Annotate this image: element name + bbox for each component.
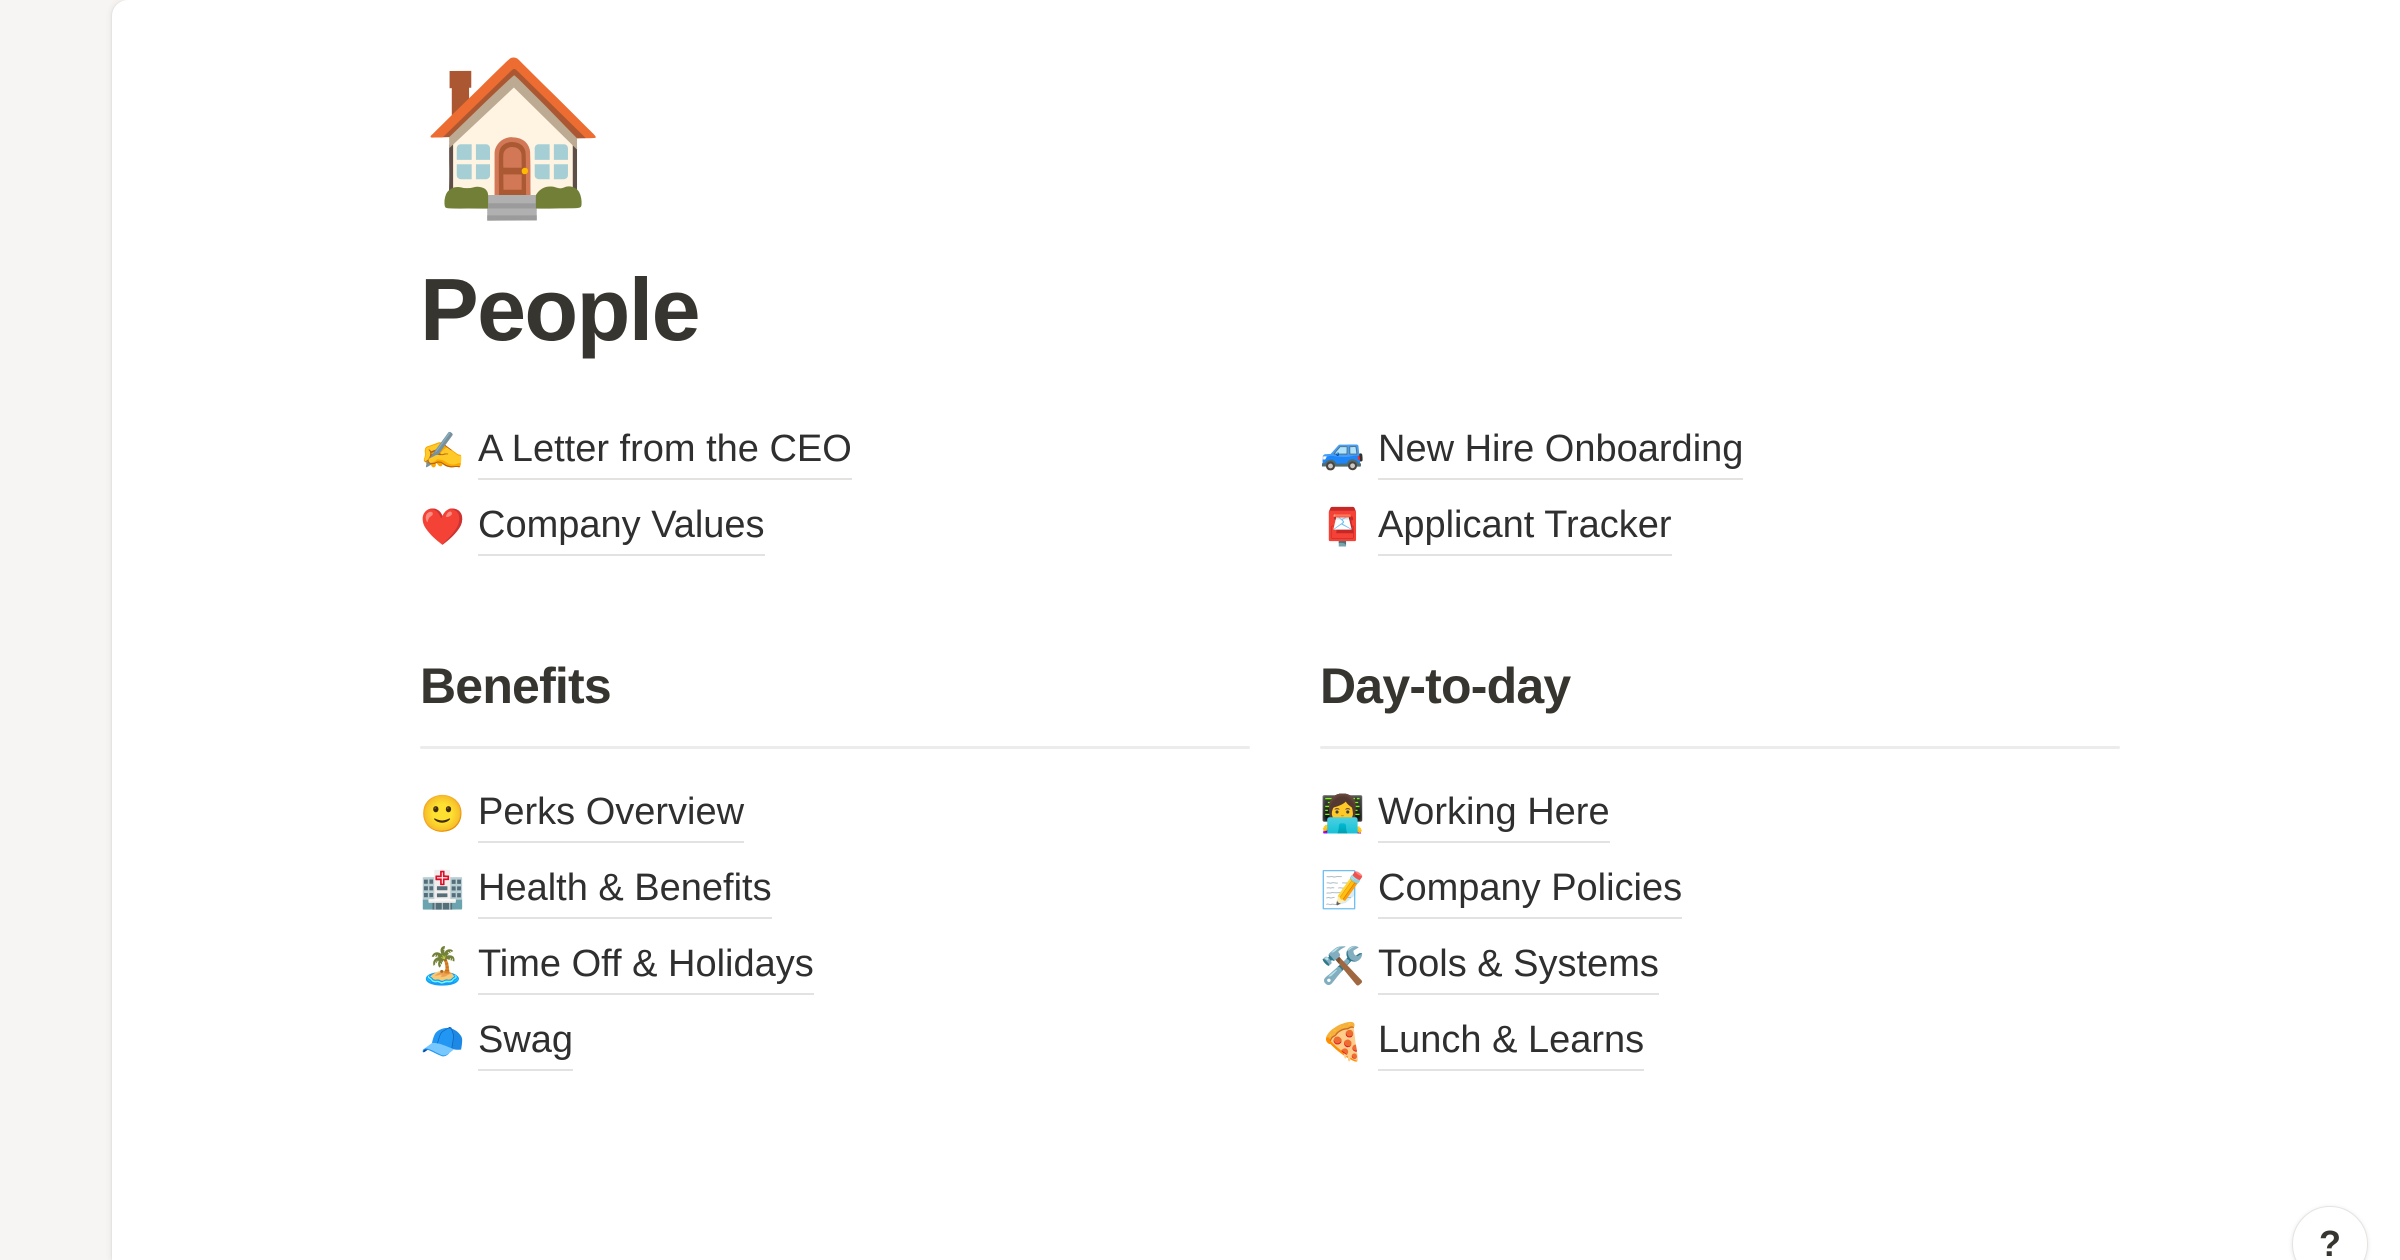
section-heading-benefits: Benefits bbox=[420, 656, 1320, 716]
section-divider bbox=[1320, 746, 2120, 749]
hospital-icon: 🏥 bbox=[420, 873, 478, 909]
top-links-right-column: 🚙 New Hire Onboarding 📮 Applicant Tracke… bbox=[1320, 414, 2220, 566]
link-swag[interactable]: Swag bbox=[478, 1016, 573, 1070]
link-new-hire-onboarding[interactable]: New Hire Onboarding bbox=[1378, 425, 1743, 479]
billed-cap-icon: 🧢 bbox=[420, 1025, 478, 1061]
desert-island-icon: 🏝️ bbox=[420, 949, 478, 985]
link-row[interactable]: 📝 Company Policies bbox=[1320, 853, 2220, 929]
link-applicant-tracker[interactable]: Applicant Tracker bbox=[1378, 501, 1672, 555]
postbox-icon: 📮 bbox=[1320, 510, 1378, 546]
top-links-columns: ✍️ A Letter from the CEO ❤️ Company Valu… bbox=[420, 414, 2220, 566]
hammer-and-wrench-icon: 🛠️ bbox=[1320, 949, 1378, 985]
woman-technologist-icon: 👩‍💻 bbox=[1320, 797, 1378, 833]
link-row[interactable]: 🍕 Lunch & Learns bbox=[1320, 1005, 2220, 1081]
link-tools-and-systems[interactable]: Tools & Systems bbox=[1378, 940, 1659, 994]
section-benefits: Benefits 🙂 Perks Overview 🏥 Health & Ben… bbox=[420, 656, 1320, 1081]
link-lunch-and-learns[interactable]: Lunch & Learns bbox=[1378, 1016, 1644, 1070]
app-root: 🏠 People ✍️ A Letter from the CEO ❤️ Com… bbox=[0, 0, 2400, 1260]
link-company-policies[interactable]: Company Policies bbox=[1378, 864, 1682, 918]
section-columns: Benefits 🙂 Perks Overview 🏥 Health & Ben… bbox=[420, 566, 2220, 1081]
day-to-day-link-list: 👩‍💻 Working Here 📝 Company Policies 🛠️ T… bbox=[1320, 777, 2220, 1081]
section-divider bbox=[420, 746, 1250, 749]
sidebar-rail bbox=[0, 0, 114, 1260]
page-body: 🏠 People ✍️ A Letter from the CEO ❤️ Com… bbox=[420, 0, 2220, 1081]
link-working-here[interactable]: Working Here bbox=[1378, 788, 1610, 842]
section-heading-day-to-day: Day-to-day bbox=[1320, 656, 2220, 716]
link-row[interactable]: 🏝️ Time Off & Holidays bbox=[420, 929, 1320, 1005]
link-row[interactable]: 🛠️ Tools & Systems bbox=[1320, 929, 2220, 1005]
red-heart-icon: ❤️ bbox=[420, 510, 478, 546]
help-button[interactable]: ? bbox=[2292, 1206, 2368, 1260]
page-title: People bbox=[420, 264, 2220, 356]
link-row[interactable]: 📮 Applicant Tracker bbox=[1320, 490, 2220, 566]
section-day-to-day: Day-to-day 👩‍💻 Working Here 📝 Company Po… bbox=[1320, 656, 2220, 1081]
page-scroll-area[interactable]: 🏠 People ✍️ A Letter from the CEO ❤️ Com… bbox=[112, 0, 2400, 1260]
car-icon: 🚙 bbox=[1320, 434, 1378, 470]
top-links-left-column: ✍️ A Letter from the CEO ❤️ Company Valu… bbox=[420, 414, 1320, 566]
link-perks-overview[interactable]: Perks Overview bbox=[478, 788, 744, 842]
memo-icon: 📝 bbox=[1320, 873, 1378, 909]
benefits-link-list: 🙂 Perks Overview 🏥 Health & Benefits 🏝️ … bbox=[420, 777, 1320, 1081]
link-row[interactable]: 🧢 Swag bbox=[420, 1005, 1320, 1081]
link-row[interactable]: 🏥 Health & Benefits bbox=[420, 853, 1320, 929]
link-row[interactable]: ✍️ A Letter from the CEO bbox=[420, 414, 1320, 490]
house-emoji[interactable]: 🏠 bbox=[420, 62, 2220, 228]
link-row[interactable]: 🙂 Perks Overview bbox=[420, 777, 1320, 853]
link-letter-from-the-ceo[interactable]: A Letter from the CEO bbox=[478, 425, 852, 479]
link-row[interactable]: ❤️ Company Values bbox=[420, 490, 1320, 566]
slight-smile-icon: 🙂 bbox=[420, 797, 478, 833]
pizza-icon: 🍕 bbox=[1320, 1025, 1378, 1061]
content-panel: 🏠 People ✍️ A Letter from the CEO ❤️ Com… bbox=[112, 0, 2400, 1260]
link-health-and-benefits[interactable]: Health & Benefits bbox=[478, 864, 772, 918]
writing-hand-icon: ✍️ bbox=[420, 434, 478, 470]
link-time-off-and-holidays[interactable]: Time Off & Holidays bbox=[478, 940, 814, 994]
link-row[interactable]: 🚙 New Hire Onboarding bbox=[1320, 414, 2220, 490]
link-row[interactable]: 👩‍💻 Working Here bbox=[1320, 777, 2220, 853]
link-company-values[interactable]: Company Values bbox=[478, 501, 765, 555]
